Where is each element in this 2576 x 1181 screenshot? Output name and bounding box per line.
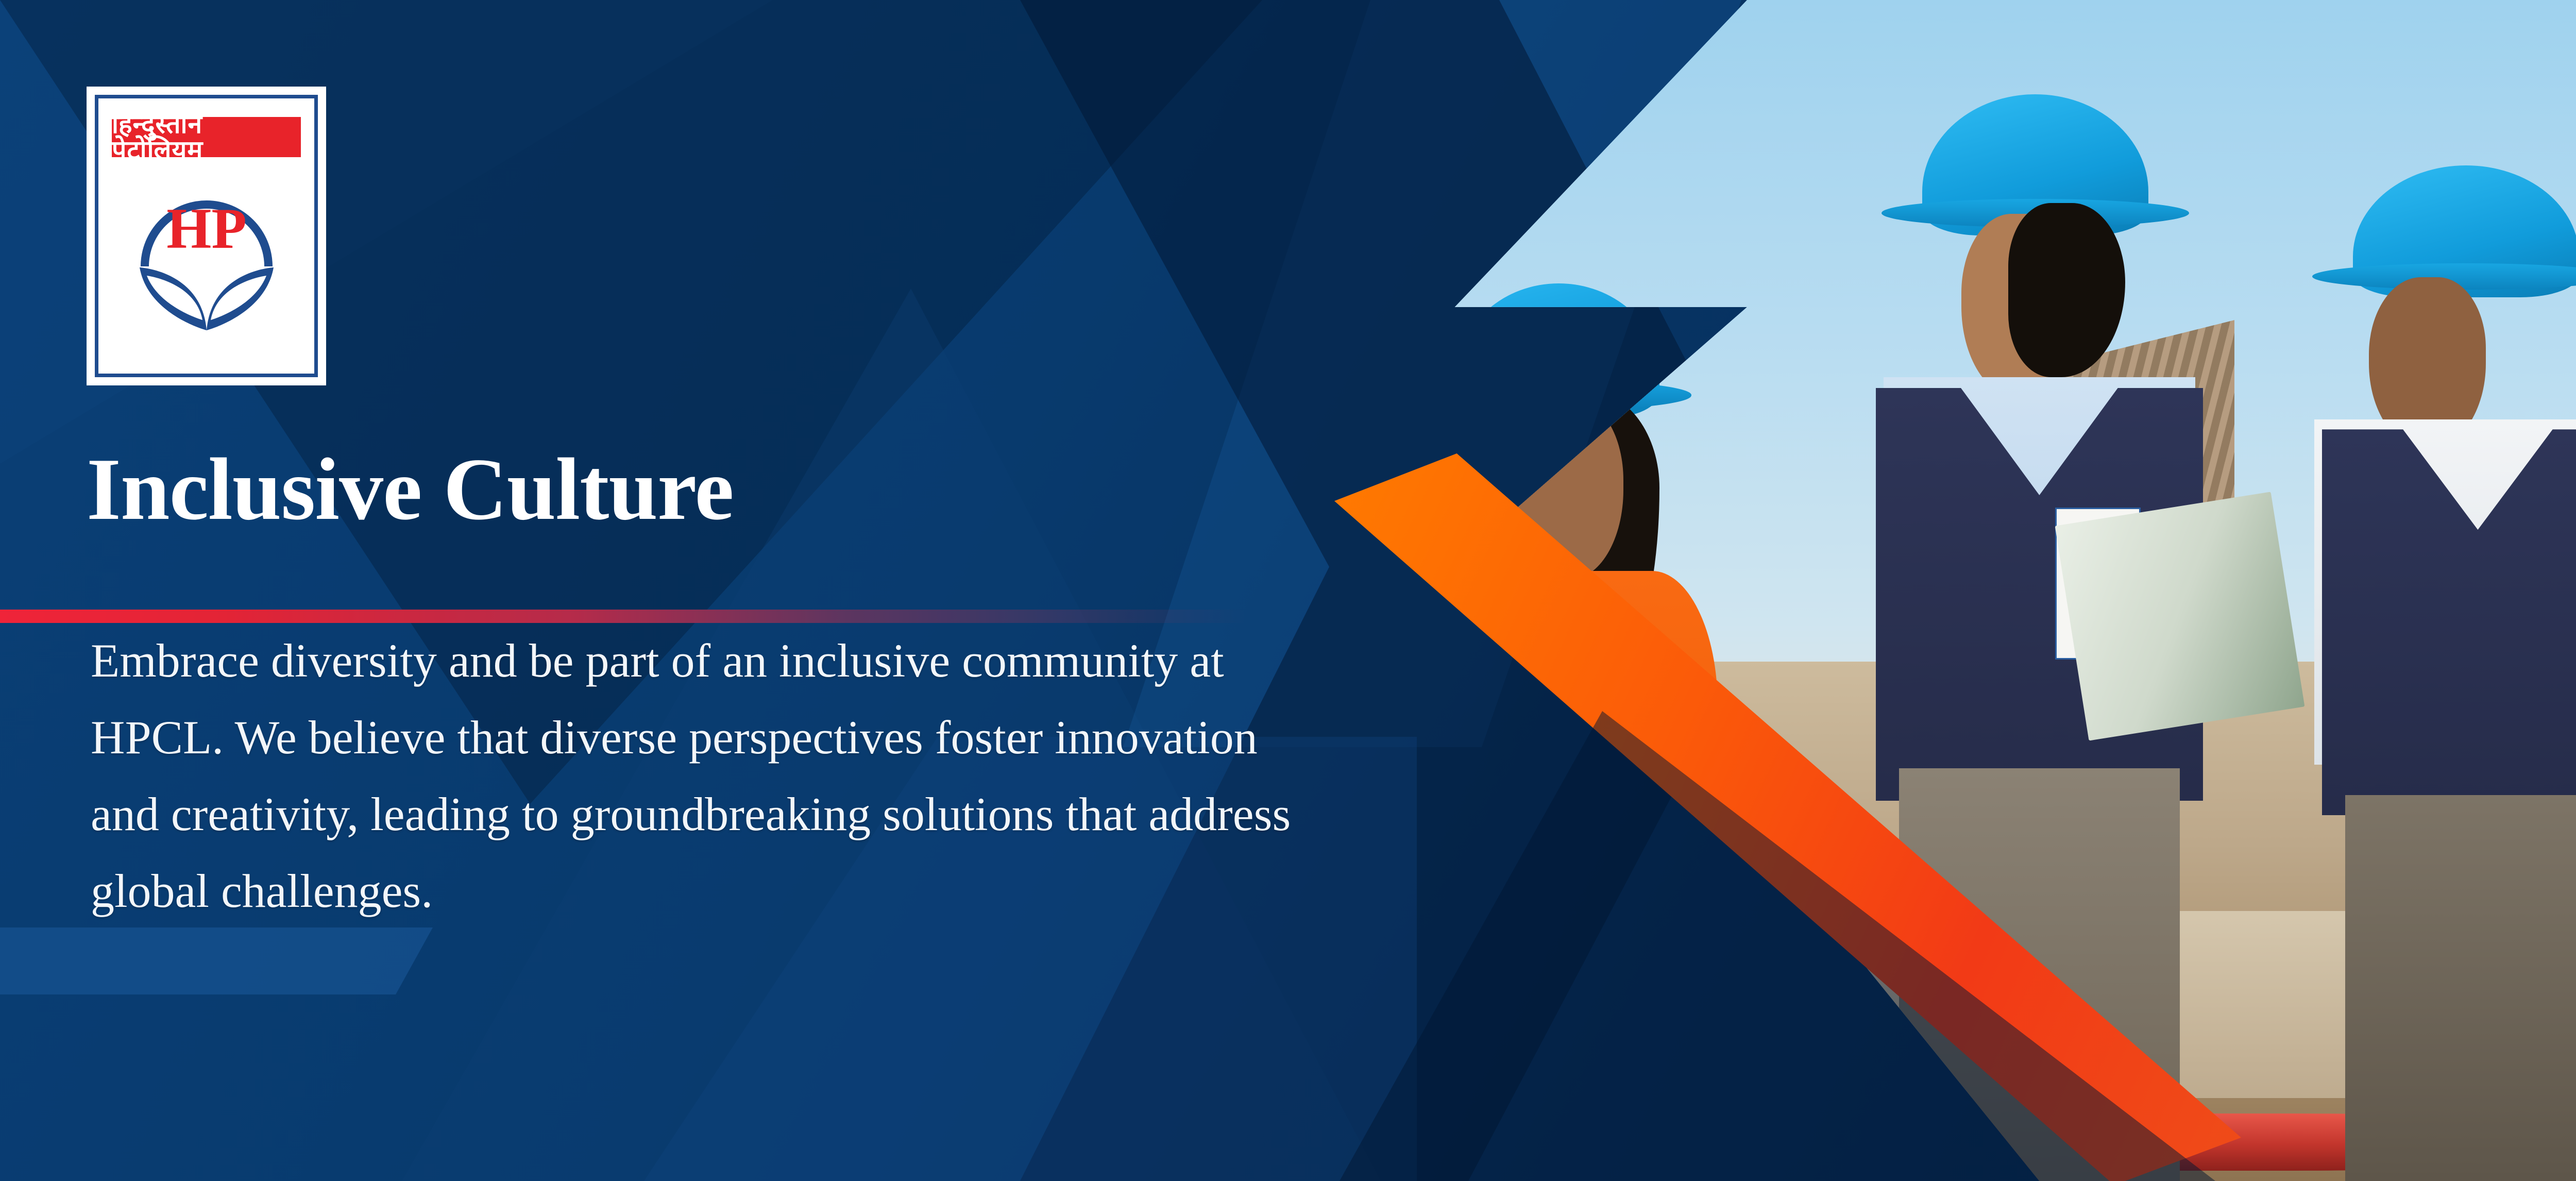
body-paragraph: Embrace diversity and be part of an incl… bbox=[91, 622, 1291, 930]
hpcl-logo-mark-icon: HP bbox=[129, 180, 284, 334]
worker-hair bbox=[2008, 203, 2125, 377]
photo-worker-right bbox=[2283, 165, 2576, 1181]
content-column: हिन्दुस्तान पेट्रोलियम HP bbox=[0, 0, 1340, 1181]
hpcl-logo-frame: हिन्दुस्तान पेट्रोलियम HP bbox=[95, 95, 318, 377]
open-document bbox=[2055, 492, 2304, 740]
hard-hat-icon bbox=[2353, 165, 2576, 297]
hpcl-logo[interactable]: हिन्दुस्तान पेट्रोलियम HP bbox=[87, 87, 326, 385]
svg-text:HP: HP bbox=[166, 197, 247, 261]
worker-trousers bbox=[2345, 795, 2576, 1181]
hpcl-inclusive-culture-banner: हिन्दुस्तान पेट्रोलियम HP bbox=[0, 0, 2576, 1181]
title-underline-rule bbox=[0, 610, 1247, 623]
page-title: Inclusive Culture bbox=[87, 445, 1340, 534]
hpcl-logo-hindi-band: हिन्दुस्तान पेट्रोलियम bbox=[112, 117, 301, 157]
